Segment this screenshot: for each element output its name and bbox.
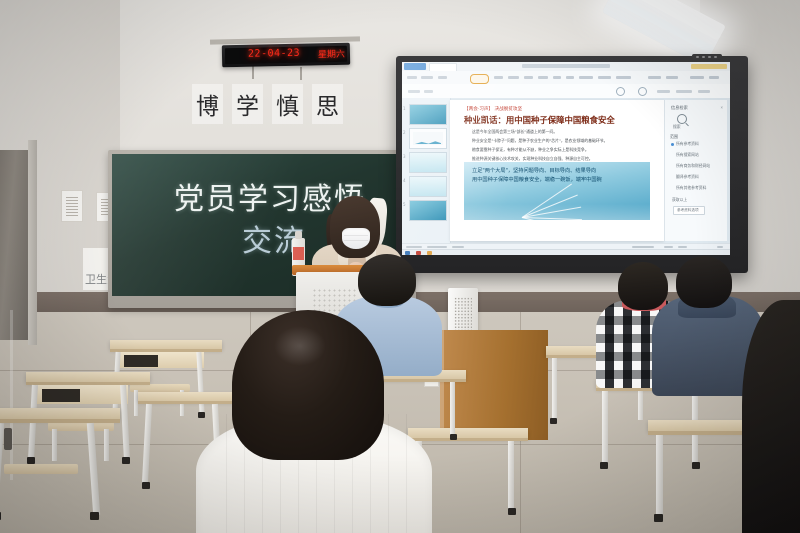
research-task-pane[interactable]: 信息检索 × 搜索 范围 所有参考资料 所有搜索网站 所有商务和财经网站 翻译参…: [664, 100, 727, 241]
task-pane-title: 信息检索: [671, 105, 688, 111]
task-pane-option[interactable]: 所有其他参考资料: [676, 185, 706, 191]
slide-thumbnail[interactable]: [409, 152, 447, 173]
ribbon-circle-icon[interactable]: [616, 87, 625, 96]
task-pane-option[interactable]: 翻译参考资料: [676, 174, 699, 180]
interactive-smart-screen[interactable]: 1 2 3 4 5 【两会·习声】 决战脱贫攻坚: [396, 56, 748, 273]
slide-thumbnail[interactable]: [409, 104, 447, 125]
task-pane-option[interactable]: 所有参考资料: [676, 141, 699, 147]
motto-char-4: 思: [312, 84, 343, 124]
article-headline: 种业凯话：用中国种子保障中国粮食安全: [464, 114, 615, 126]
windows-taskbar[interactable]: [402, 249, 730, 255]
slide-thumbnail[interactable]: [409, 176, 447, 197]
task-pane-hint: 获取以上: [672, 197, 687, 203]
ribbon-highlight-pill[interactable]: [470, 74, 489, 84]
app-tab-active[interactable]: [404, 63, 426, 70]
hair-highlight: [274, 326, 326, 366]
audience-member-head: [676, 256, 732, 308]
ribbon-circle-icon[interactable]: [638, 87, 647, 96]
article-kicker: 【两会·习声】 决战脱贫攻坚: [464, 106, 522, 112]
ribbon-toolbar-row1[interactable]: [402, 71, 730, 85]
sanitizer-label: [293, 247, 304, 260]
thumbnail-index: 1: [403, 106, 406, 111]
wps-writer-icon[interactable]: [416, 251, 421, 255]
led-date-text: 22-04-23: [248, 48, 300, 60]
figure-caption-line1: 立足"两个大局"，坚持问题导向、目标导向、结果导向: [472, 167, 596, 174]
window-controls[interactable]: [691, 64, 727, 69]
article-paragraph: 粮食要靠种子保证，有种才能从不缺，种业之争实际上是科技竞争。: [472, 146, 589, 153]
search-icon[interactable]: [677, 114, 687, 124]
task-pane-search-label: 搜索: [673, 124, 681, 130]
article-paragraph: 这是今年全国两会第三场"部长"通道上的第一问。: [472, 128, 557, 135]
rail-hook: [300, 67, 302, 80]
reference-options-button[interactable]: 参考资料选项: [673, 206, 705, 215]
sanitizer-pump: [295, 231, 302, 239]
radio-selected-icon[interactable]: [671, 143, 674, 146]
door-handle-icon[interactable]: [4, 428, 12, 450]
slide-thumbnail[interactable]: [409, 128, 447, 149]
article-paragraph: 种业安全是"卡脖子"问题，是种子农业生产的"芯片"，是农业领域的基础环节。: [472, 137, 608, 144]
foreground-student-hair: [232, 310, 384, 460]
task-pane-section-label: 范围: [670, 134, 678, 140]
motto-char-1: 博: [192, 84, 223, 124]
screen-display[interactable]: 1 2 3 4 5 【两会·习声】 决战脱贫攻坚: [402, 62, 730, 255]
wall-notice-sheet: [61, 190, 83, 222]
screen-camera-bar: [692, 54, 722, 59]
led-weekday-text: 星期六: [318, 47, 345, 61]
file-explorer-icon[interactable]: [427, 251, 432, 255]
ribbon-toolbar-row2[interactable]: [402, 84, 730, 99]
slide-thumbnail[interactable]: [409, 200, 447, 221]
door-frame: [28, 140, 37, 345]
thumbnail-index: 5: [403, 202, 406, 207]
figure-caption-line2: 用中国种子保障中国粮食安全，端稳一碗饭，端牢中国碗: [472, 176, 602, 183]
reference-options-label: 参考资料选项: [677, 208, 699, 213]
wooden-cabinet: [440, 330, 548, 440]
rail-hook: [252, 66, 254, 79]
slide-thumbnail-panel[interactable]: 1 2 3 4 5: [402, 98, 451, 243]
thumbnail-index: 2: [403, 130, 406, 135]
document-workspace[interactable]: 1 2 3 4 5 【两会·习声】 决战脱贫攻坚: [402, 98, 730, 243]
audience-member-head: [618, 262, 668, 310]
classroom-scene: 卫生角 博 学 慎 思 22-04-23 星期六 党员学习感悟 交流: [0, 0, 800, 533]
thumbnail-index: 3: [403, 154, 406, 159]
task-pane-option[interactable]: 所有搜索网站: [676, 152, 699, 158]
task-pane-option[interactable]: 所有商务和财经网站: [676, 163, 710, 169]
motto-char-2: 学: [232, 84, 263, 124]
windows-start-icon[interactable]: [405, 251, 410, 255]
close-icon[interactable]: ×: [721, 105, 723, 110]
door-glass-strip: [10, 310, 13, 480]
document-page[interactable]: 【两会·习声】 决战脱贫攻坚 种业凯话：用中国种子保障中国粮食安全 这是今年全国…: [450, 100, 664, 241]
led-date-display: 22-04-23 星期六: [222, 43, 350, 68]
audience-member-head: [358, 254, 416, 306]
article-figure: 立足"两个大局"，坚持问题导向、目标导向、结果导向 用中国种子保障中国粮食安全，…: [464, 162, 650, 220]
motto-char-3: 慎: [272, 84, 303, 124]
thumbnail-index: 4: [403, 178, 406, 183]
app-title-text: [522, 64, 610, 68]
white-face-mask: [342, 228, 370, 249]
